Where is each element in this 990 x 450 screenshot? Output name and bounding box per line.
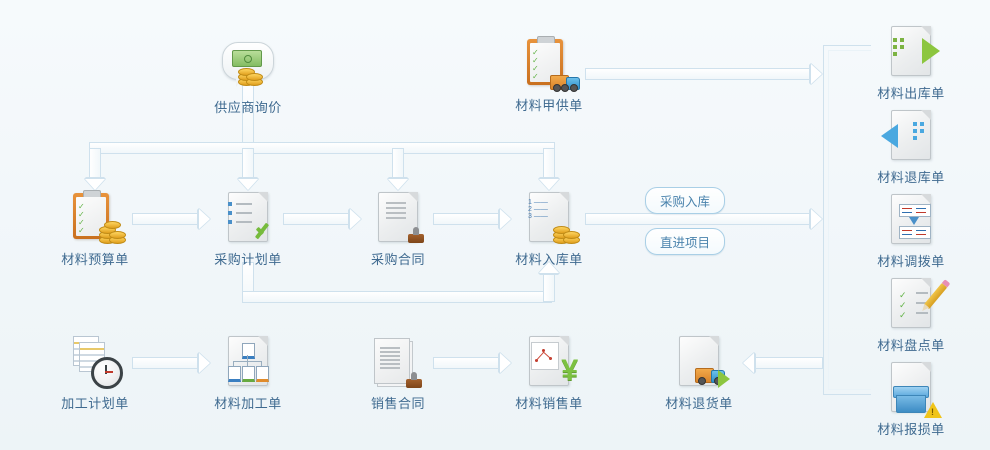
node-material-supply[interactable]: ✓✓✓✓ 材料甲供单: [495, 36, 603, 114]
document-checklist-pencil-icon: ✓✓✓: [883, 276, 939, 332]
node-label: 材料退库单: [857, 170, 965, 186]
node-label: 材料甲供单: [495, 98, 603, 114]
document-check-icon: [220, 190, 276, 246]
node-label: 加工计划单: [41, 396, 149, 412]
node-label: 材料入库单: [495, 252, 603, 268]
node-material-return[interactable]: 材料退货单: [645, 334, 753, 412]
node-material-transfer[interactable]: 材料调拨单: [857, 192, 965, 270]
spreadsheet-clock-icon: [67, 334, 123, 390]
connector-loop-across: [242, 291, 552, 303]
connector-bus-to-plan: [242, 148, 254, 190]
connector-bus-to-budget: [89, 148, 101, 190]
node-process-plan[interactable]: 加工计划单: [41, 334, 149, 412]
chart-yen-icon: ¥: [521, 334, 577, 390]
connector-supply-to-warehouse: [585, 68, 822, 80]
document-coins-icon: 1 ——2 ——3 ——: [521, 190, 577, 246]
document-box-warning-icon: [883, 360, 939, 416]
workflow-diagram: 采购入库 直进项目 供应商询价 ✓✓✓✓: [0, 0, 990, 450]
document-arrow-in-icon: [883, 108, 939, 164]
node-supplier-quote[interactable]: 供应商询价: [194, 38, 302, 116]
connector-distribution-bus: [89, 142, 555, 154]
document-transfer-icon: [883, 192, 939, 248]
connector-loop-up-to-inbound: [543, 262, 555, 302]
node-purchase-plan[interactable]: 采购计划单: [194, 190, 302, 268]
node-material-outbound[interactable]: 材料出库单: [857, 24, 965, 102]
node-label: 供应商询价: [194, 100, 302, 116]
node-label: 材料调拨单: [857, 254, 965, 270]
node-material-damage[interactable]: 材料报损单: [857, 360, 965, 438]
node-label: 材料销售单: [495, 396, 603, 412]
documents-stamp-icon: [370, 334, 426, 390]
node-material-inbound[interactable]: 1 ——2 ——3 —— 材料入库单: [495, 190, 603, 268]
connector-warehouse-to-return: [743, 357, 823, 369]
clipboard-truck-icon: ✓✓✓✓: [521, 36, 577, 92]
node-purchase-contract[interactable]: 采购合同: [344, 190, 452, 268]
document-stamp-icon: [370, 190, 426, 246]
node-sales-contract[interactable]: 销售合同: [344, 334, 452, 412]
document-tree-icon: [220, 334, 276, 390]
document-arrow-out-icon: [883, 24, 939, 80]
node-material-budget[interactable]: ✓✓✓✓ 材料预算单: [41, 190, 149, 268]
node-label: 销售合同: [344, 396, 452, 412]
money-bubble-icon: [220, 38, 276, 94]
node-label: 材料报损单: [857, 422, 965, 438]
node-material-return-stock[interactable]: 材料退库单: [857, 108, 965, 186]
clipboard-coins-icon: ✓✓✓✓: [67, 190, 123, 246]
node-material-sales[interactable]: ¥ 材料销售单: [495, 334, 603, 412]
node-label: 材料退货单: [645, 396, 753, 412]
document-truck-return-icon: [671, 334, 727, 390]
node-label: 材料出库单: [857, 86, 965, 102]
node-label: 采购合同: [344, 252, 452, 268]
badge-direct-to-project[interactable]: 直进项目: [645, 228, 725, 255]
connector-bus-to-inbound: [543, 148, 555, 190]
node-label: 材料预算单: [41, 252, 149, 268]
connector-bus-to-contract: [392, 148, 404, 190]
node-label: 材料盘点单: [857, 338, 965, 354]
node-label: 采购计划单: [194, 252, 302, 268]
node-material-stocktake[interactable]: ✓✓✓ 材料盘点单: [857, 276, 965, 354]
node-material-process[interactable]: 材料加工单: [194, 334, 302, 412]
connector-inbound-to-warehouse: [585, 213, 822, 225]
badge-purchase-inbound[interactable]: 采购入库: [645, 187, 725, 214]
node-label: 材料加工单: [194, 396, 302, 412]
